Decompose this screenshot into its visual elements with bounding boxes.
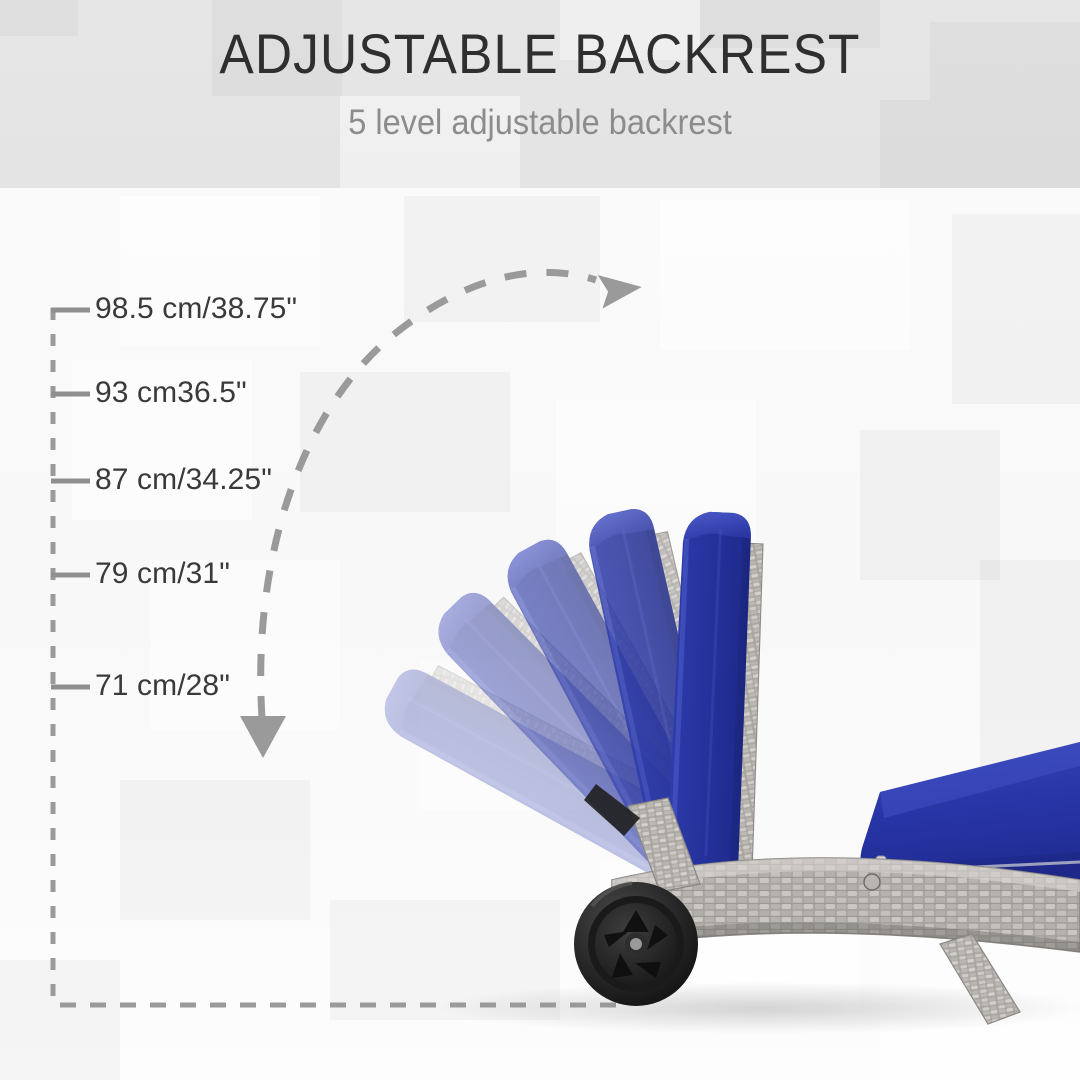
transport-wheel [574, 882, 698, 1006]
infographic-canvas: ADJUSTABLE BACKREST 5 level adjustable b… [0, 0, 1080, 1080]
measurement-label-1: 98.5 cm/38.75" [95, 294, 297, 324]
measurement-label-5: 71 cm/28" [95, 671, 230, 701]
measurement-label-2: 93 cm36.5" [95, 378, 247, 408]
measurement-label-3: 87 cm/34.25" [95, 465, 272, 495]
product-illustration [0, 0, 1080, 1080]
measurement-label-4: 79 cm/31" [95, 559, 230, 589]
